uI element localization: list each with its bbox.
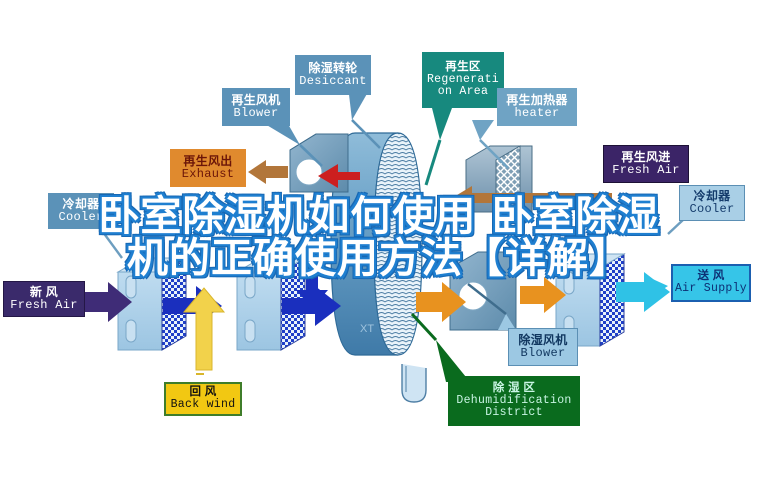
label-desiccant-wheel-cn: 除湿转轮 bbox=[308, 62, 357, 75]
label-regen-fresh-air-cn: 再生风进 bbox=[621, 151, 670, 164]
label-cooler-right-cn: 冷却器 bbox=[694, 190, 731, 203]
label-desiccant-wheel: 除湿转轮 Desiccant bbox=[295, 55, 371, 95]
label-back-wind-en: Back wind bbox=[171, 399, 236, 412]
label-fresh-air: 新 风 Fresh Air bbox=[3, 281, 85, 317]
label-cooler-left-en: Cooler bbox=[58, 211, 103, 224]
label-regen-blower-en: Blower bbox=[233, 107, 278, 120]
label-regen-area-en: Regenerati on Area bbox=[427, 74, 499, 100]
svg-text:XT: XT bbox=[360, 323, 374, 335]
label-regen-exhaust-en: Exhaust bbox=[182, 168, 235, 181]
exhaust-arrow bbox=[248, 160, 288, 184]
label-dehum-blower-cn: 除湿风机 bbox=[518, 334, 567, 347]
label-regen-area-cn: 再生区 bbox=[445, 61, 480, 74]
label-dehum-district: 除 湿 区 Dehumidification District bbox=[448, 376, 580, 426]
label-cooler-right: 冷却器 Cooler bbox=[679, 185, 745, 221]
diagram-artwork: XT bbox=[0, 0, 757, 488]
label-desiccant-wheel-en: Desiccant bbox=[299, 75, 367, 88]
label-cooler-right-en: Cooler bbox=[689, 203, 734, 216]
label-regen-heater-cn: 再生加热器 bbox=[506, 94, 568, 107]
label-air-supply: 送 风 Air Supply bbox=[671, 264, 751, 302]
label-regen-heater: 再生加热器 heater bbox=[497, 88, 577, 126]
label-regen-fresh-air-en: Fresh Air bbox=[612, 164, 680, 177]
label-fresh-air-en: Fresh Air bbox=[10, 299, 78, 312]
label-regen-fresh-air: 再生风进 Fresh Air bbox=[603, 145, 689, 183]
label-dehum-district-cn: 除 湿 区 bbox=[493, 382, 535, 395]
label-regen-blower: 再生风机 Blower bbox=[222, 88, 290, 126]
label-fresh-air-cn: 新 风 bbox=[30, 286, 58, 299]
label-cooler-left-cn: 冷却器 bbox=[63, 198, 100, 211]
label-dehum-blower-en: Blower bbox=[520, 347, 565, 360]
label-cooler-left: 冷却器 Cooler bbox=[48, 193, 114, 229]
label-regen-area: 再生区 Regenerati on Area bbox=[422, 52, 504, 108]
label-regen-heater-en: heater bbox=[514, 107, 559, 120]
label-back-wind: 回 风 Back wind bbox=[164, 382, 242, 416]
label-dehum-district-en: Dehumidification District bbox=[456, 395, 571, 421]
dehumidifier-diagram-image: XT bbox=[0, 0, 757, 488]
label-regen-exhaust: 再生风出 Exhaust bbox=[170, 149, 246, 187]
label-regen-exhaust-cn: 再生风出 bbox=[183, 155, 232, 168]
label-regen-blower-cn: 再生风机 bbox=[231, 94, 280, 107]
label-air-supply-en: Air Supply bbox=[675, 283, 747, 296]
label-dehum-blower: 除湿风机 Blower bbox=[508, 328, 578, 366]
